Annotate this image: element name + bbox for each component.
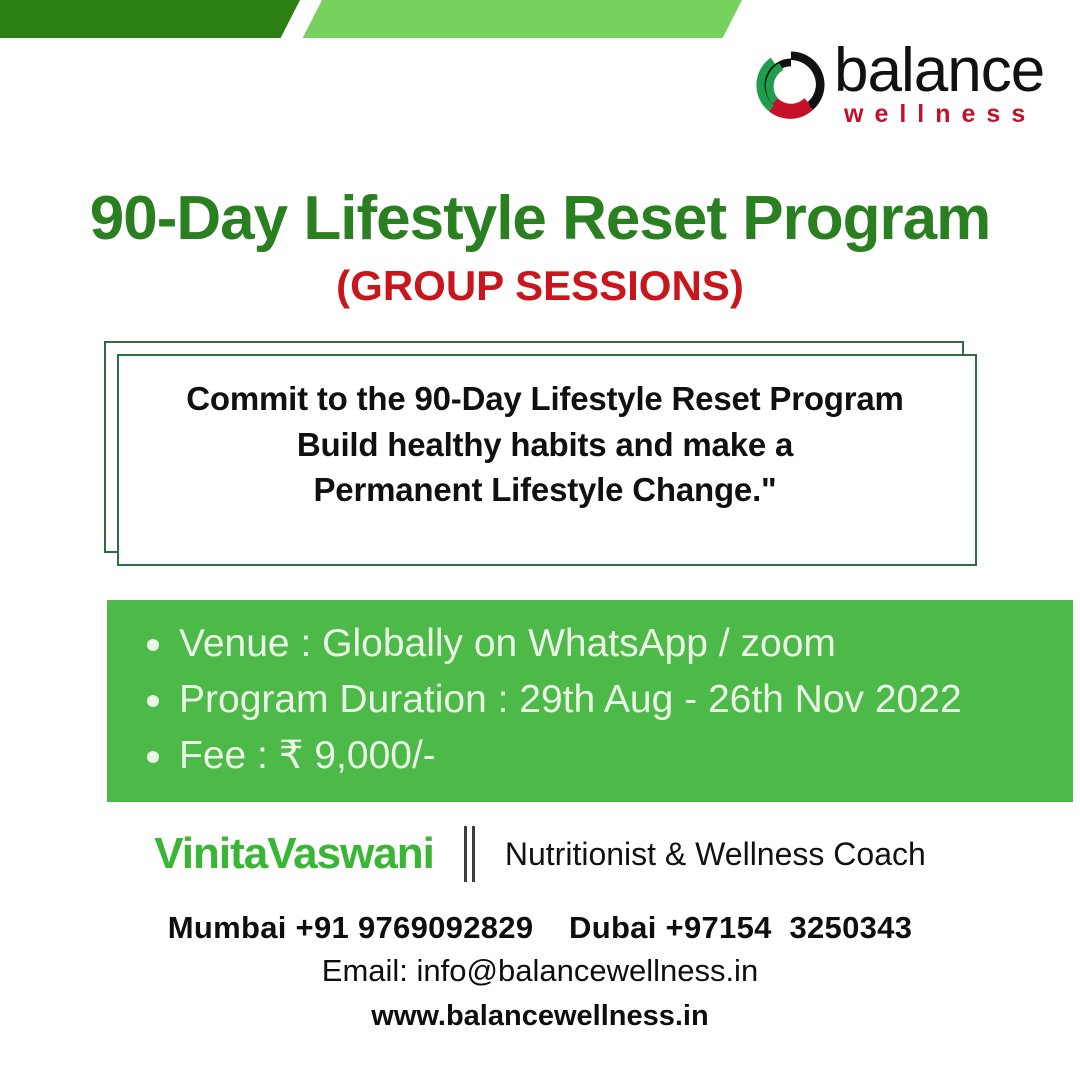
coach-role: Nutritionist & Wellness Coach [505, 838, 926, 870]
quote-line-3: Permanent Lifestyle Change." [117, 467, 973, 513]
top-band-dark-green [0, 0, 300, 38]
quote-line-1: Commit to the 90-Day Lifestyle Reset Pro… [117, 376, 973, 422]
poster-canvas: balance wellness 90-Day Lifestyle Reset … [0, 0, 1080, 1080]
coach-name: VinitaVaswani [154, 832, 434, 876]
list-item-fee: Fee : ₹ 9,000/- [135, 728, 1073, 784]
top-band-light-green [303, 0, 742, 38]
contact-website[interactable]: www.balancewellness.in [0, 995, 1080, 1039]
contact-block: Mumbai +91 9769092829 Dubai +97154 32503… [0, 908, 1080, 1038]
contact-phones: Mumbai +91 9769092829 Dubai +97154 32503… [0, 908, 1080, 948]
program-details-panel: Venue : Globally on WhatsApp / zoom Prog… [107, 600, 1073, 802]
list-item-venue: Venue : Globally on WhatsApp / zoom [135, 616, 1073, 672]
balance-swirl-mark-icon [752, 46, 830, 124]
brand-logo: balance wellness [752, 44, 1052, 144]
page-subtitle: (GROUP SESSIONS) [0, 264, 1080, 308]
quote-line-2: Build healthy habits and make a [117, 422, 973, 468]
brand-name: balance [834, 40, 1044, 102]
brand-tagline: wellness [844, 102, 1036, 127]
signature-row: VinitaVaswani Nutritionist & Wellness Co… [0, 826, 1080, 882]
vertical-divider-icon [464, 826, 475, 882]
contact-email[interactable]: Email: info@balancewellness.in [0, 948, 1080, 995]
page-title: 90-Day Lifestyle Reset Program [0, 186, 1080, 251]
list-item-duration: Program Duration : 29th Aug - 26th Nov 2… [135, 672, 1073, 728]
program-details-list: Venue : Globally on WhatsApp / zoom Prog… [107, 600, 1073, 784]
quote-block: Commit to the 90-Day Lifestyle Reset Pro… [117, 376, 973, 513]
